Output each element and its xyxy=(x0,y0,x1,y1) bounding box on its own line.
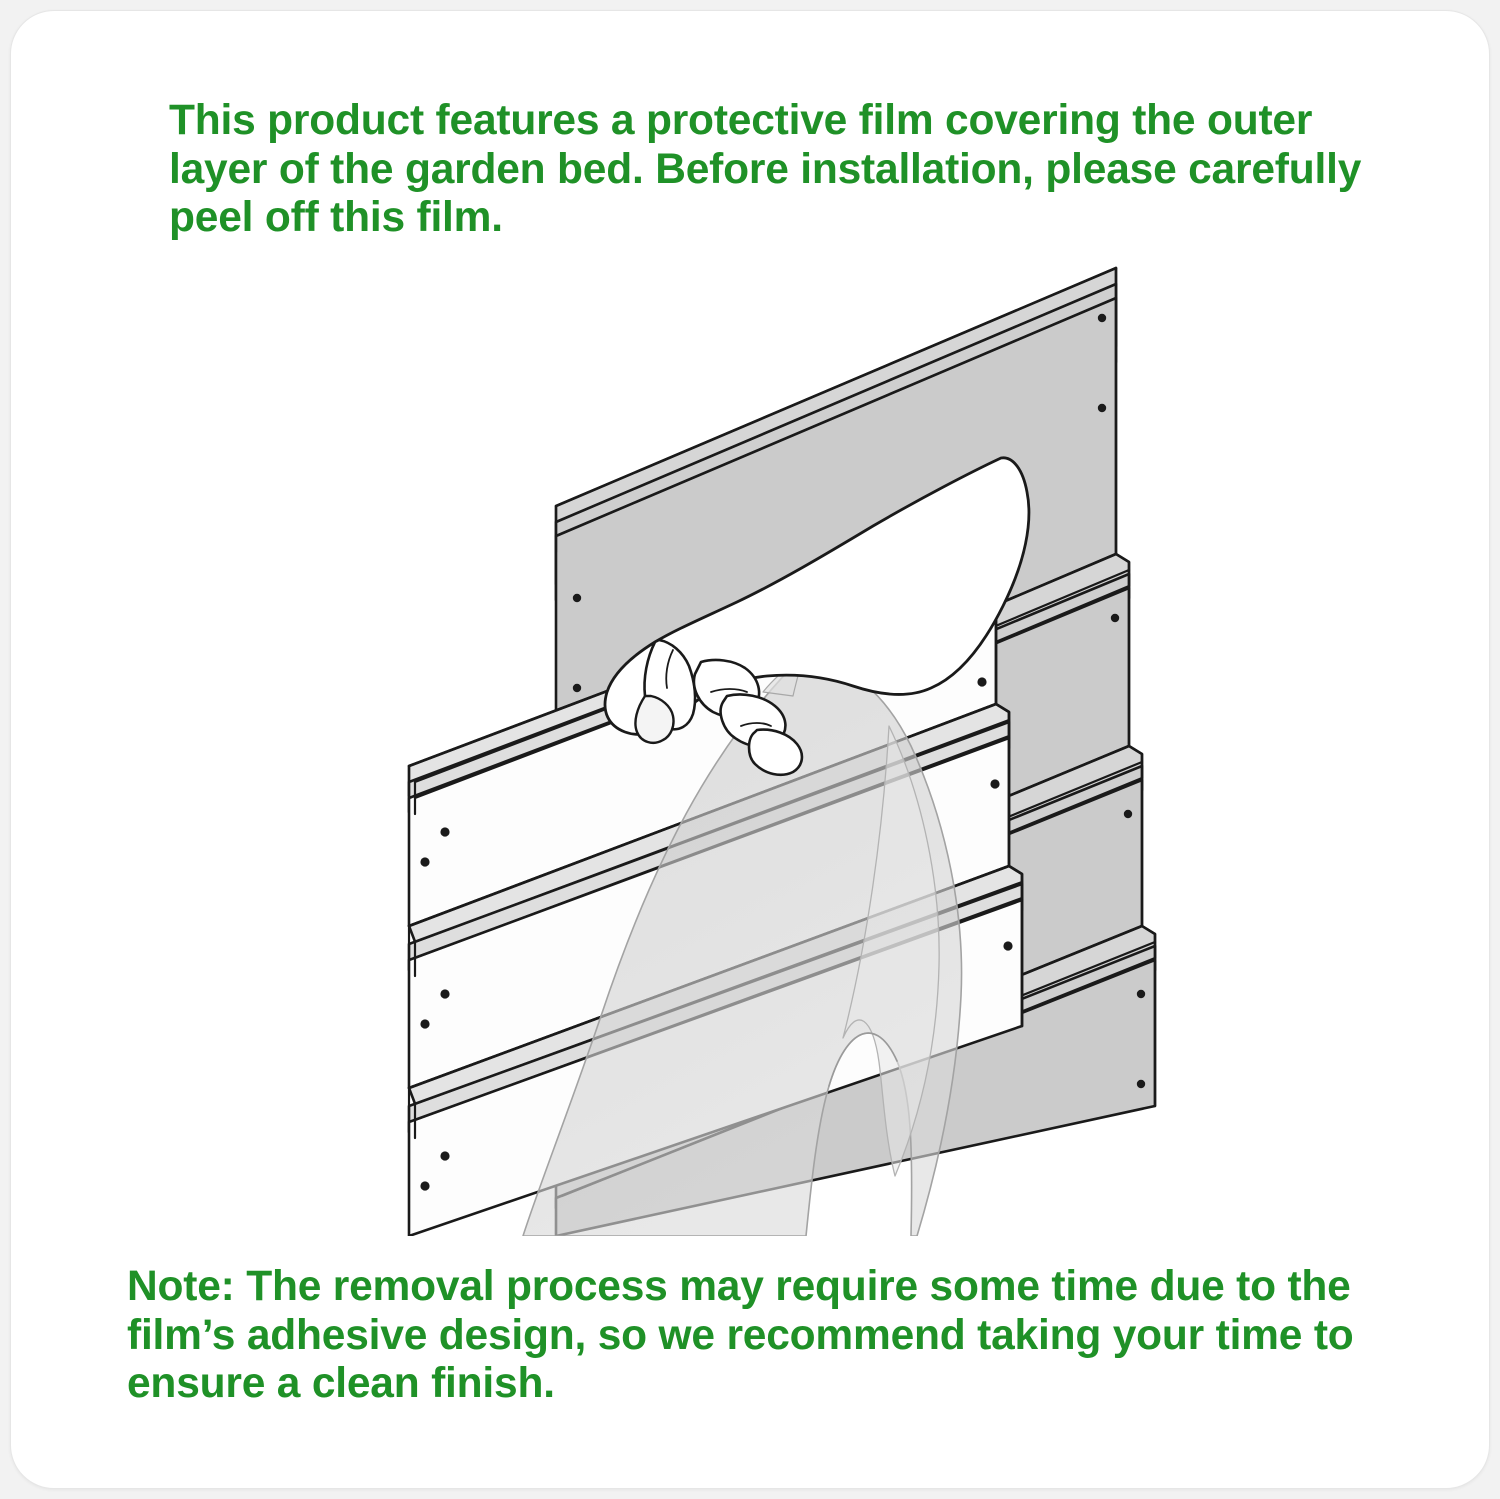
headline-text: This product features a protective film … xyxy=(169,97,1379,243)
screw-hole xyxy=(1137,990,1145,998)
screw-hole xyxy=(1003,941,1012,950)
screw-hole xyxy=(420,1019,429,1028)
illustration-container xyxy=(11,226,1490,1236)
screw-hole xyxy=(1098,314,1106,322)
screw-hole xyxy=(573,594,581,602)
screw-hole xyxy=(990,779,999,788)
screw-hole xyxy=(573,684,581,692)
screw-hole xyxy=(440,1151,449,1160)
screw-hole xyxy=(977,677,986,686)
instruction-card: This product features a protective film … xyxy=(10,10,1490,1489)
screw-hole xyxy=(1137,1080,1145,1088)
screw-hole xyxy=(420,857,429,866)
note-text: Note: The removal process may require so… xyxy=(127,1263,1412,1409)
screw-hole xyxy=(1111,614,1119,622)
screw-hole xyxy=(420,1181,429,1190)
screw-hole xyxy=(1098,404,1106,412)
page-background: This product features a protective film … xyxy=(0,0,1500,1499)
screw-hole xyxy=(440,989,449,998)
screw-hole xyxy=(1124,810,1132,818)
garden-bed-peel-illustration xyxy=(11,226,1490,1236)
screw-hole xyxy=(440,827,449,836)
